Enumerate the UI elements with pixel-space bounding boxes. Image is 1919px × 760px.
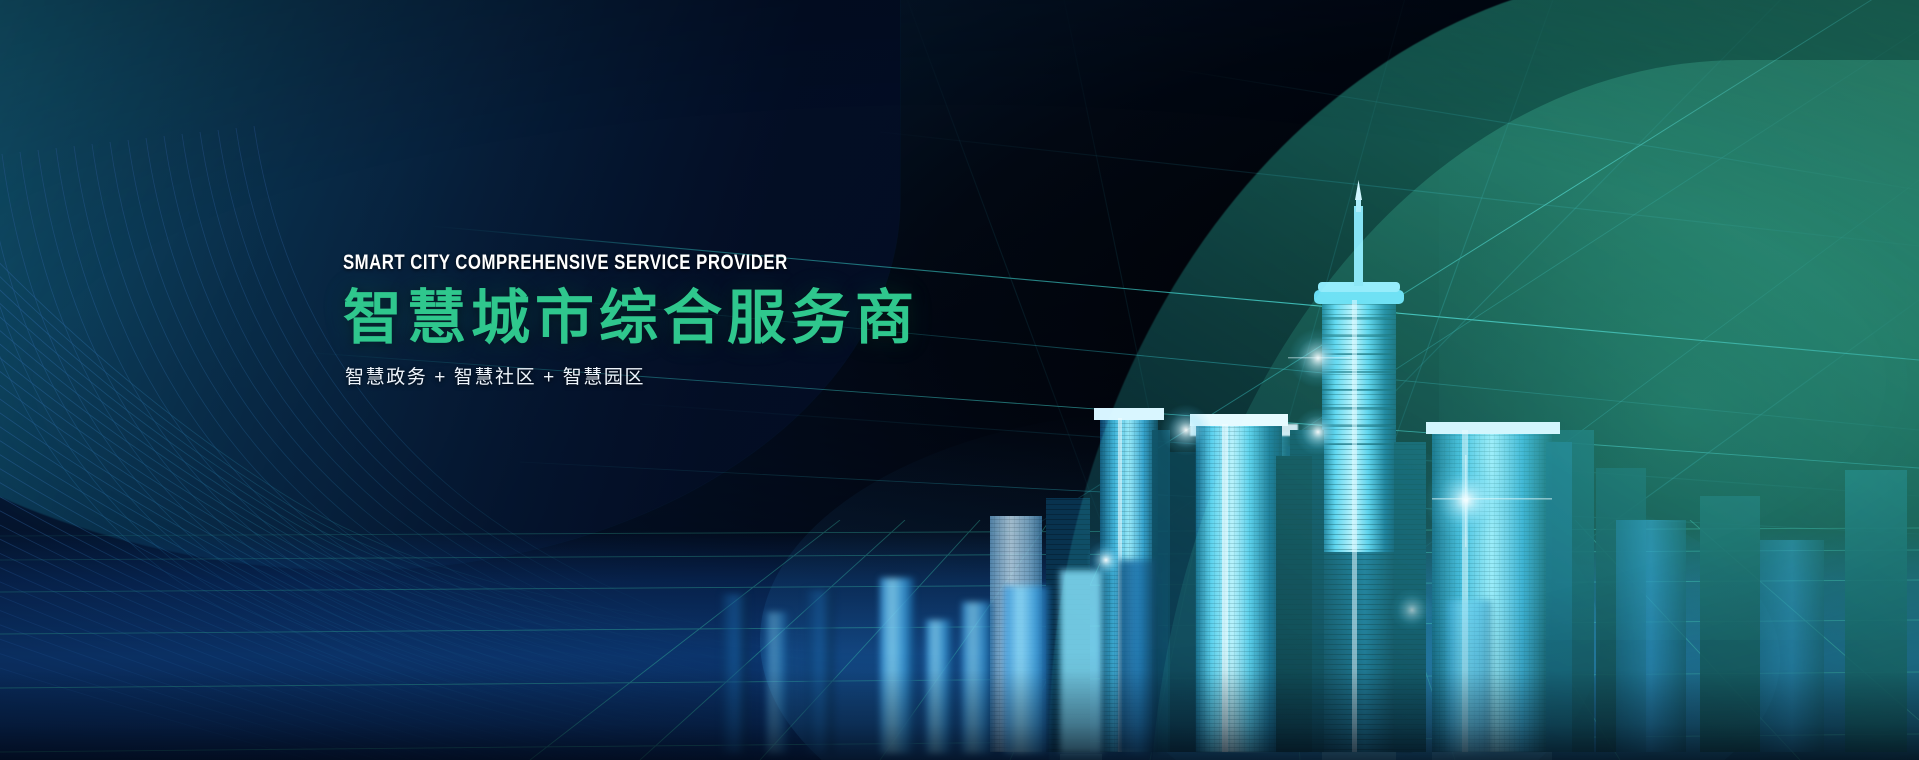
- bottom-fade-overlay: [0, 670, 1919, 760]
- hero-subline-services: 智慧政务 + 智慧社区 + 智慧园区: [345, 368, 1103, 387]
- smart-city-hero-banner: SMART CITY COMPREHENSIVE SERVICE PROVIDE…: [0, 0, 1919, 760]
- hero-eyebrow-english: SMART CITY COMPREHENSIVE SERVICE PROVIDE…: [343, 252, 951, 273]
- hero-headline-chinese: 智慧城市综合服务商: [343, 287, 1103, 351]
- hero-copy-block: SMART CITY COMPREHENSIVE SERVICE PROVIDE…: [343, 252, 1103, 387]
